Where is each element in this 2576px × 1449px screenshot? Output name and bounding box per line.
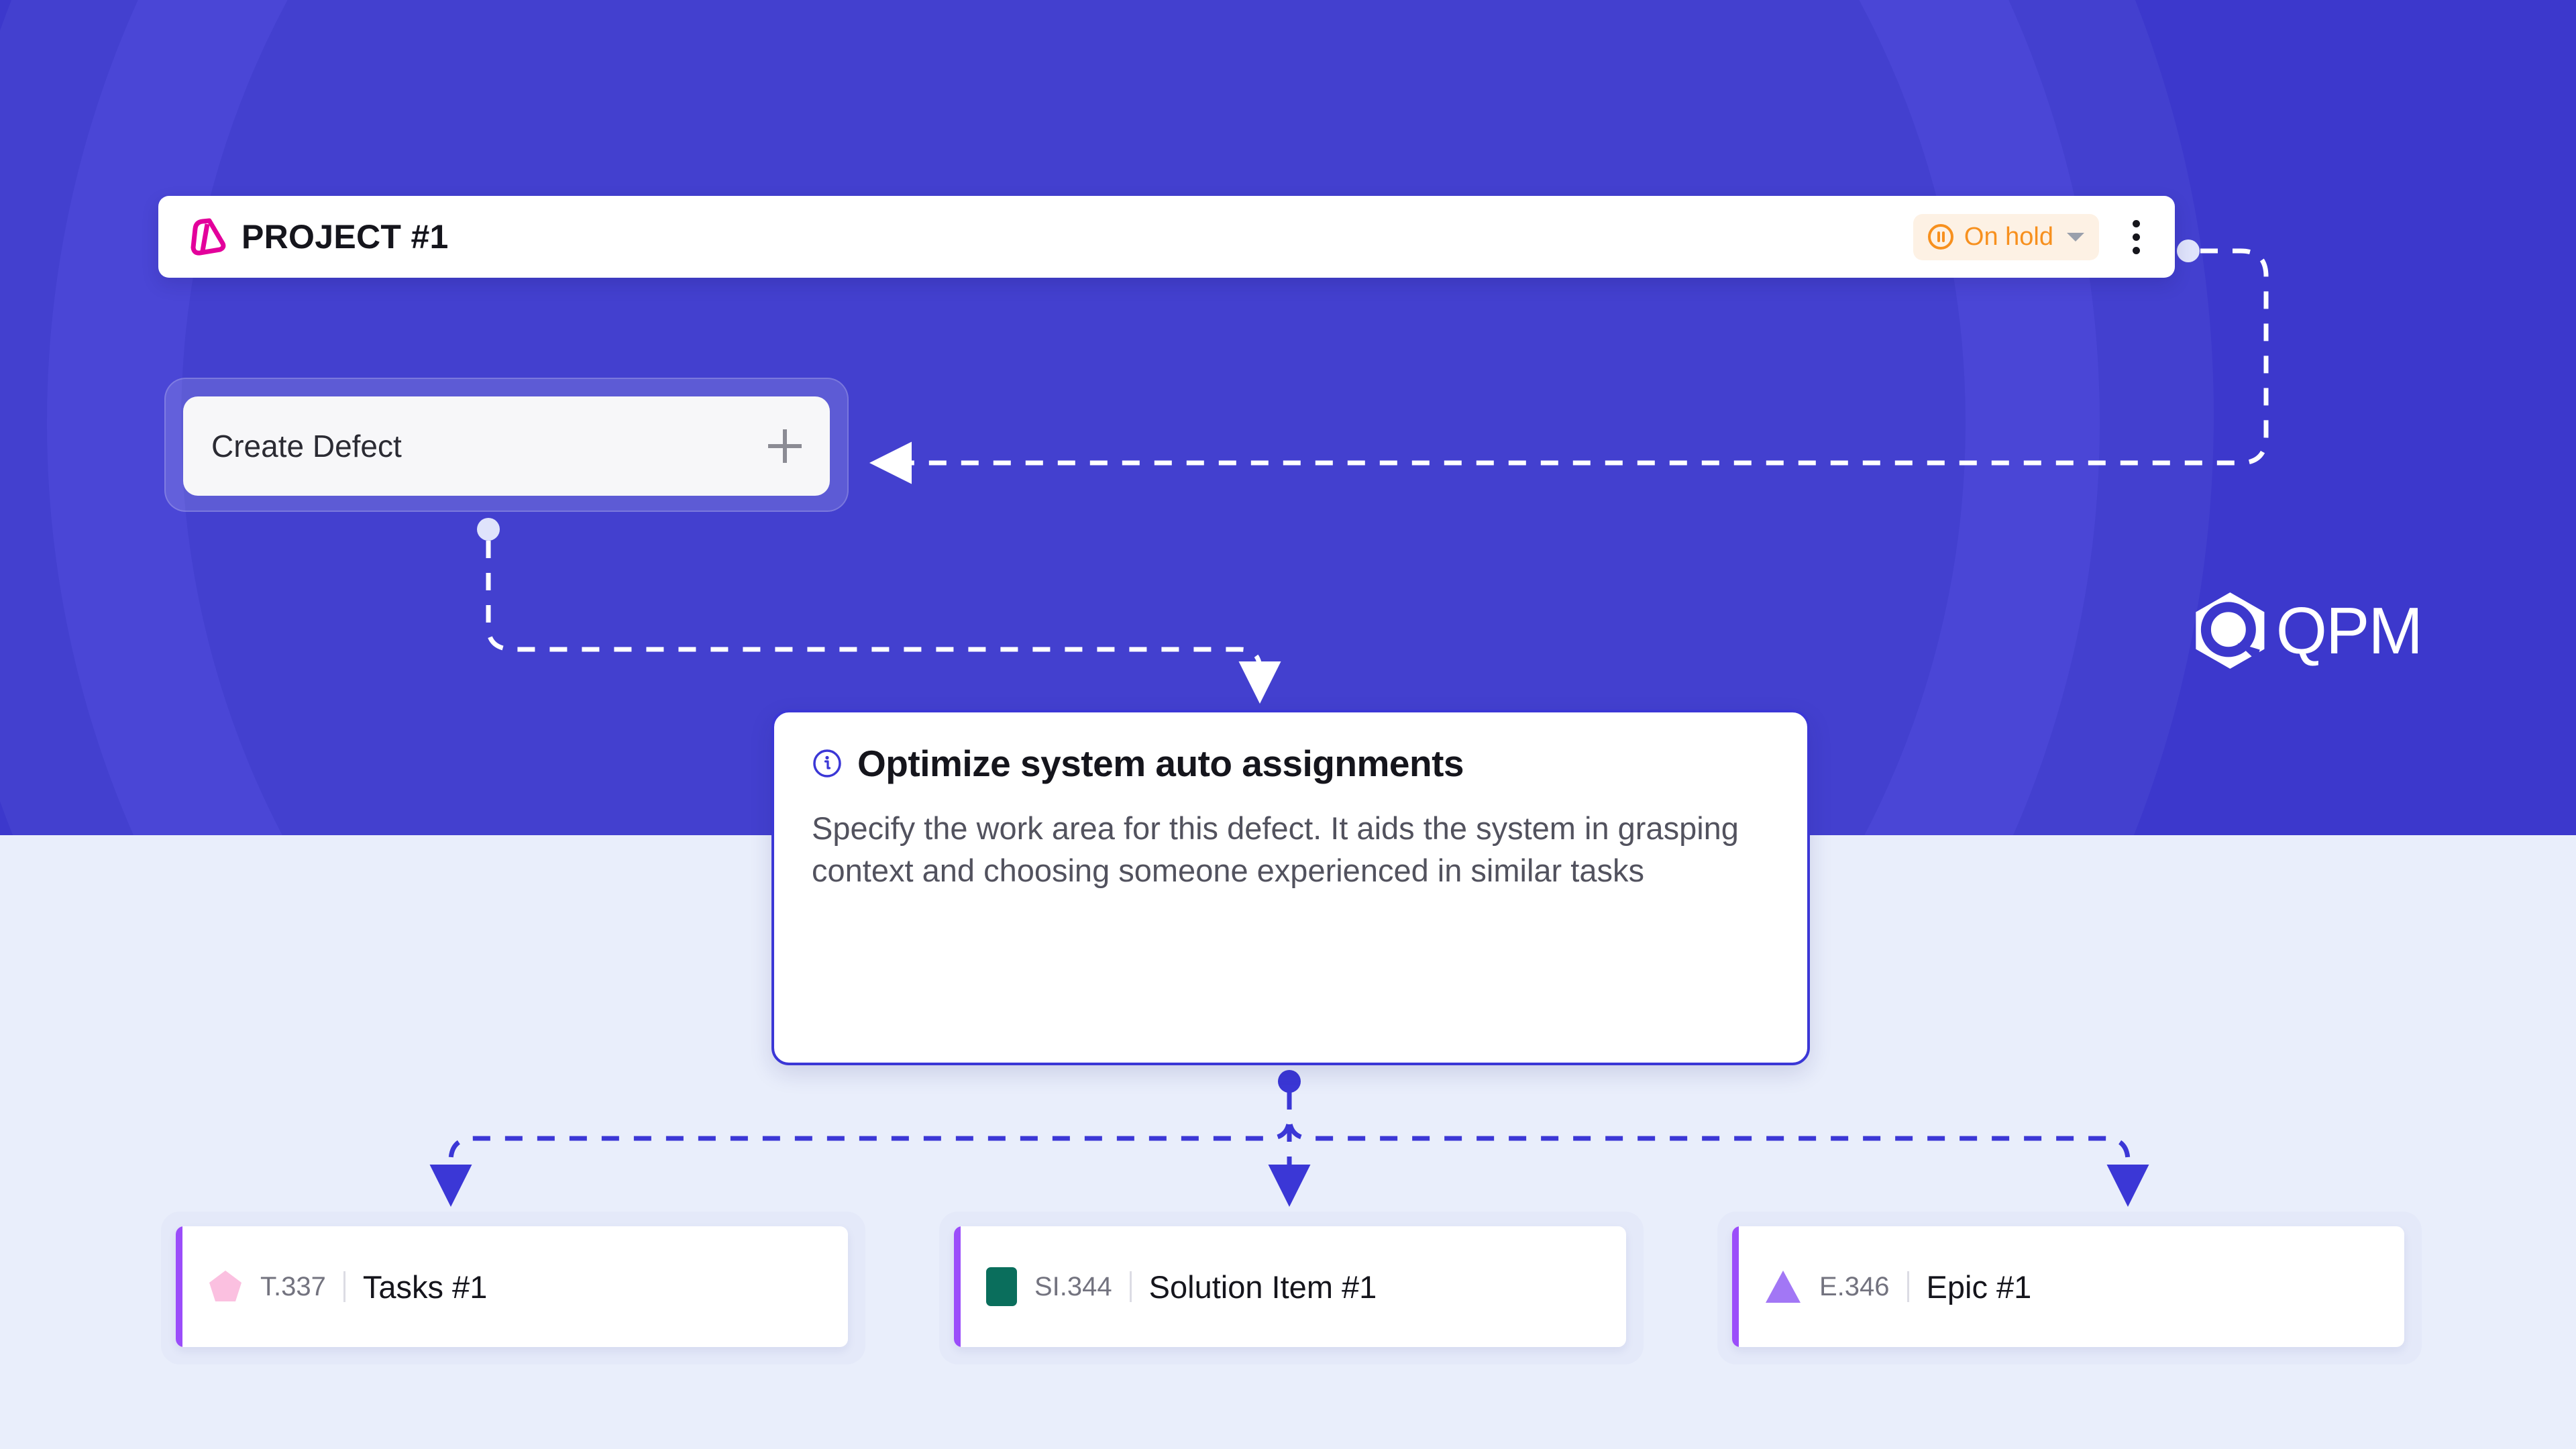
item-divider (343, 1271, 345, 1302)
item-code: T.337 (260, 1272, 326, 1302)
item-card[interactable]: E.346 Epic #1 (1732, 1226, 2404, 1347)
project-header-card[interactable]: PROJECT #1 On hold (158, 196, 2175, 278)
square-icon (986, 1267, 1017, 1306)
kebab-menu-icon[interactable] (2122, 213, 2151, 261)
kebab-dot (2133, 220, 2140, 227)
item-content: SI.344 Solution Item #1 (961, 1267, 1377, 1306)
item-content: E.346 Epic #1 (1739, 1269, 2031, 1305)
info-card-body: Specify the work area for this defect. I… (812, 808, 1770, 892)
status-badge[interactable]: On hold (1913, 214, 2099, 260)
chevron-down-icon[interactable] (2067, 233, 2084, 241)
qpm-hexagon-icon (2194, 584, 2267, 678)
project-title: PROJECT #1 (241, 217, 449, 256)
info-tooltip-card: Optimize system auto assignments Specify… (771, 710, 1810, 1065)
item-code: SI.344 (1034, 1272, 1112, 1302)
item-accent-bar (954, 1226, 961, 1347)
item-title: Epic #1 (1927, 1269, 2032, 1305)
item-divider (1907, 1271, 1909, 1302)
project-title-group: PROJECT #1 (189, 217, 1913, 256)
item-node-epic[interactable]: E.346 Epic #1 (1717, 1212, 2422, 1364)
create-defect-label: Create Defect (211, 428, 768, 464)
qpm-brand-logo: QPM (2194, 580, 2422, 681)
qpm-wordmark: QPM (2276, 598, 2422, 663)
info-circle-icon (812, 748, 843, 779)
item-accent-bar (176, 1226, 182, 1347)
item-content: T.337 Tasks #1 (182, 1269, 487, 1305)
pentagon-icon (208, 1269, 243, 1304)
create-defect-field[interactable]: Create Defect (183, 396, 830, 496)
item-code: E.346 (1819, 1272, 1890, 1302)
create-defect-node[interactable]: Create Defect (164, 378, 849, 512)
status-label: On hold (1964, 223, 2053, 252)
item-divider (1130, 1271, 1132, 1302)
project-diamond-icon (189, 218, 227, 256)
info-card-title: Optimize system auto assignments (857, 742, 1464, 785)
info-card-header: Optimize system auto assignments (812, 742, 1770, 785)
pause-circle-icon (1927, 223, 1955, 251)
item-title: Tasks #1 (363, 1269, 487, 1305)
kebab-dot (2133, 247, 2140, 254)
item-card[interactable]: SI.344 Solution Item #1 (954, 1226, 1626, 1347)
kebab-dot (2133, 233, 2140, 241)
item-node-solution[interactable]: SI.344 Solution Item #1 (939, 1212, 1644, 1364)
triangle-icon (1764, 1269, 1802, 1304)
item-accent-bar (1732, 1226, 1739, 1347)
item-card[interactable]: T.337 Tasks #1 (176, 1226, 848, 1347)
item-title: Solution Item #1 (1149, 1269, 1377, 1305)
item-node-tasks[interactable]: T.337 Tasks #1 (161, 1212, 865, 1364)
plus-icon[interactable] (768, 429, 802, 463)
